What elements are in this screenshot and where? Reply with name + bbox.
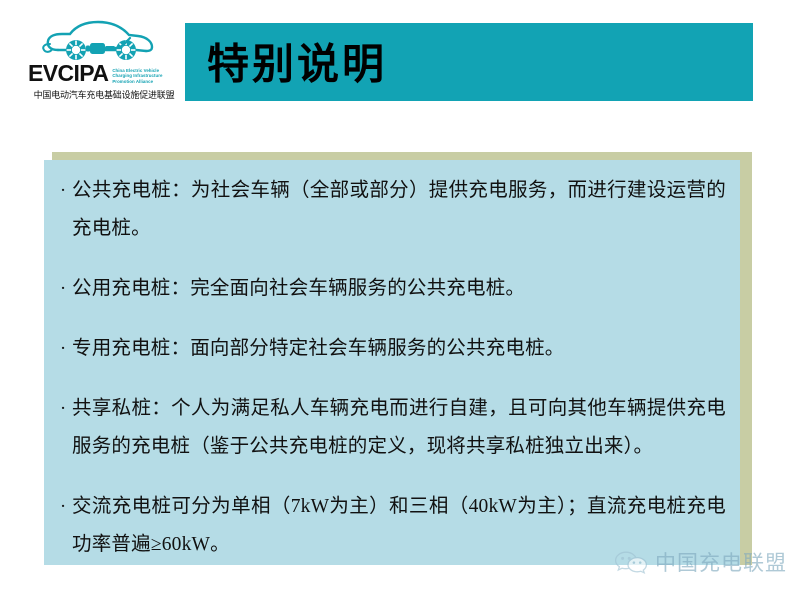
bullet-list: · 公共充电桩：为社会车辆（全部或部分）提供充电服务，而进行建设运营的充电桩。 … xyxy=(44,160,740,565)
bullet-text-4: 共享私桩：个人为满足私人车辆充电而进行自建，且可向其他车辆提供充电服务的充电桩（… xyxy=(72,390,726,466)
bullet-dot-icon: · xyxy=(54,488,72,526)
footer-watermark-text: 中国充电联盟 xyxy=(655,547,787,577)
logo-english-line-1: China Electric Vehicle xyxy=(112,68,159,73)
bullet-dot-icon: · xyxy=(54,330,72,368)
content-panel: · 公共充电桩：为社会车辆（全部或部分）提供充电服务，而进行建设运营的充电桩。 … xyxy=(44,160,740,565)
wechat-icon xyxy=(614,549,648,575)
logo-chinese-name: 中国电动汽车充电基础设施促进联盟 xyxy=(26,88,182,101)
bullet-dot-icon: · xyxy=(54,270,72,308)
bullet-dot-icon: · xyxy=(54,172,72,210)
logo-evcipa-text: EVCIPA xyxy=(28,62,108,85)
logo-english-tagline: China Electric Vehicle Charging Infrastr… xyxy=(112,68,162,84)
logo-wordmark: EVCIPA China Electric Vehicle Charging I… xyxy=(28,63,180,85)
list-item: · 专用充电桩：面向部分特定社会车辆服务的公共充电桩。 xyxy=(54,330,726,368)
bullet-text-1: 公共充电桩：为社会车辆（全部或部分）提供充电服务，而进行建设运营的充电桩。 xyxy=(72,172,726,248)
list-item: · 公用充电桩：完全面向社会车辆服务的公共充电桩。 xyxy=(54,270,726,308)
bullet-text-2: 公用充电桩：完全面向社会车辆服务的公共充电桩。 xyxy=(72,270,726,308)
bullet-dot-icon: · xyxy=(54,390,72,428)
slide-header: EVCIPA China Electric Vehicle Charging I… xyxy=(0,0,800,118)
ev-car-charging-logo-icon xyxy=(40,16,164,64)
logo-english-line-2: Charging Infrastructure xyxy=(112,73,162,78)
list-item: · 共享私桩：个人为满足私人车辆充电而进行自建，且可向其他车辆提供充电服务的充电… xyxy=(54,390,726,466)
list-item: · 公共充电桩：为社会车辆（全部或部分）提供充电服务，而进行建设运营的充电桩。 xyxy=(54,172,726,248)
bullet-text-3: 专用充电桩：面向部分特定社会车辆服务的公共充电桩。 xyxy=(72,330,726,368)
title-bar: 特别说明 xyxy=(185,23,753,101)
page-title: 特别说明 xyxy=(207,30,387,91)
logo-english-line-3: Promotion Alliance xyxy=(112,79,153,84)
evcipa-logo: EVCIPA China Electric Vehicle Charging I… xyxy=(22,16,182,104)
footer-watermark: 中国充电联盟 xyxy=(614,547,787,577)
